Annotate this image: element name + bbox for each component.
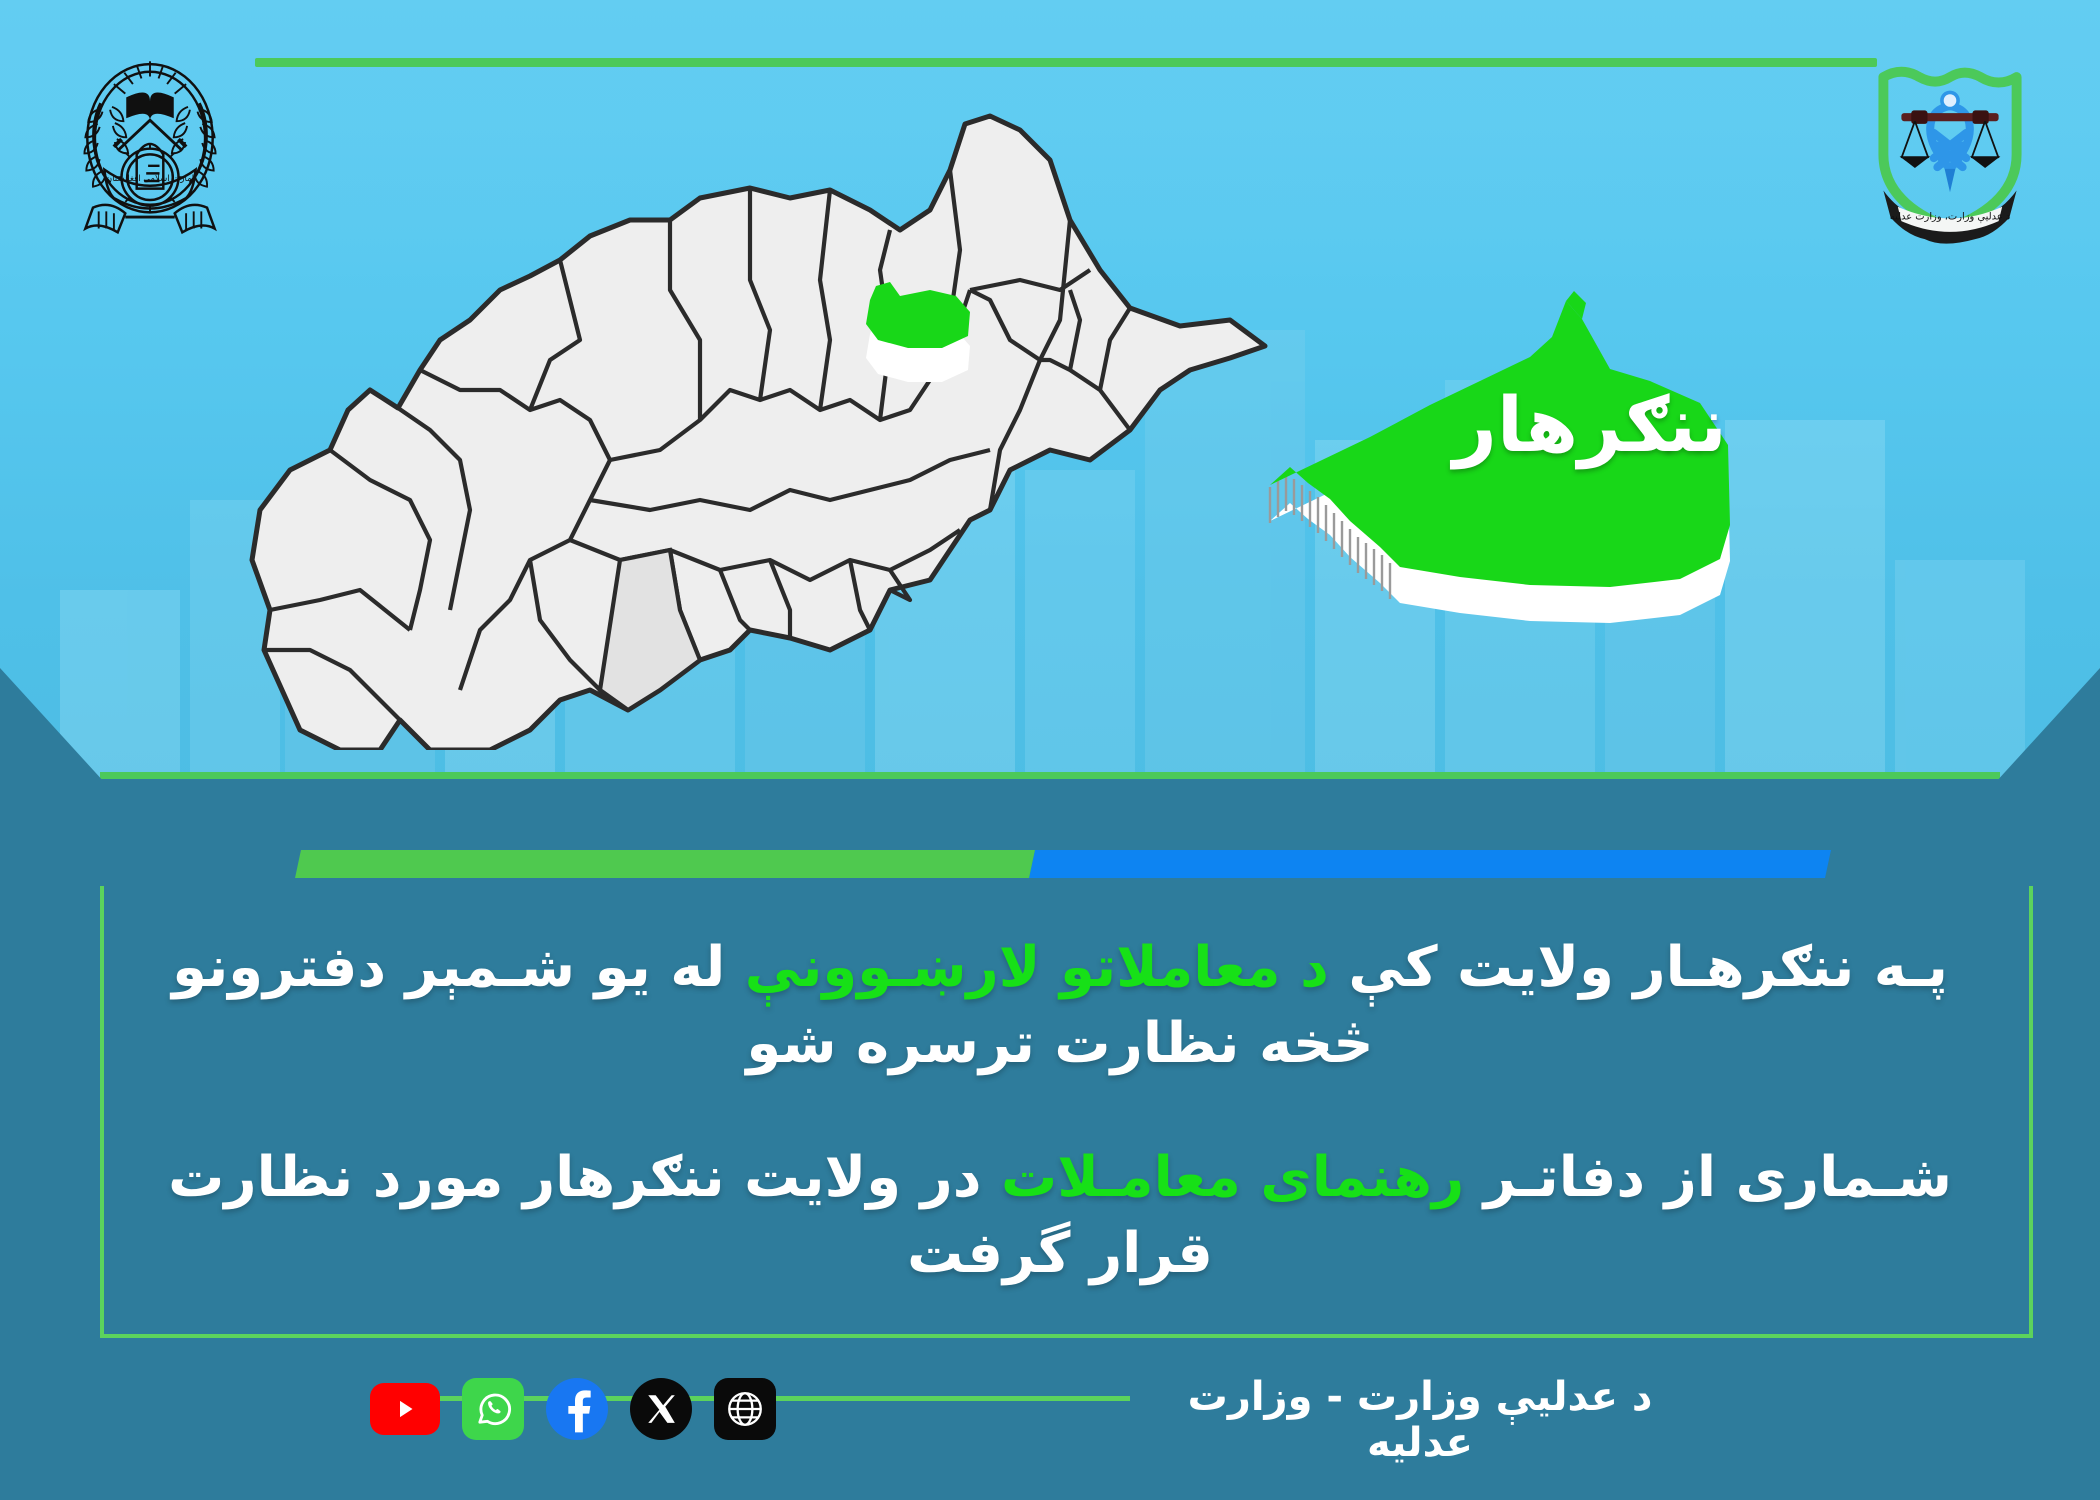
headline-dari: شـماری از دفاتـر رهنمای معامـلات در ولای… (150, 1140, 1970, 1291)
divider-bar-green (295, 850, 1035, 878)
ministry-of-justice-emblem-icon: د عدلیې وزارت، وزارت عدلیه (1860, 55, 2040, 245)
website-icon[interactable] (714, 1378, 776, 1440)
divider-bar-blue (1029, 850, 1831, 878)
hero-bottom-green-line (100, 772, 2000, 779)
nangarhar-province-callout (1230, 285, 1830, 665)
youtube-icon[interactable] (370, 1383, 440, 1435)
x-twitter-icon[interactable] (630, 1378, 692, 1440)
headline-pashto: پـه ننګرهـار ولایت کې د معاملاتو لارښـوو… (150, 930, 1970, 1081)
headline-dari-highlight: رهنمای معامـلات (1001, 1145, 1464, 1210)
national-emblem-icon: امارت اسلامی افغانستان (55, 48, 245, 238)
highlighted-province-nangarhar (866, 282, 970, 382)
nangarhar-map-label: ننګرهار (1400, 380, 1780, 469)
afghanistan-provinces-map (230, 90, 1290, 750)
facebook-icon[interactable] (546, 1378, 608, 1440)
footer-ministry-name: د عدلیې وزارت - وزارت عدلیه (1130, 1372, 1710, 1468)
poster-canvas: امارت اسلامی افغانستان (0, 0, 2100, 1500)
social-links (370, 1378, 776, 1440)
svg-text:امارت اسلامی افغانستان: امارت اسلامی افغانستان (106, 174, 194, 184)
headline-pashto-part1: پـه ننګرهـار ولایت کې (1329, 935, 1948, 1000)
headline-pashto-highlight: د معاملاتو لارښـوونې (745, 935, 1329, 1000)
whatsapp-icon[interactable] (462, 1378, 524, 1440)
headline-dari-part1: شـماری از دفاتـر (1464, 1145, 1952, 1210)
moj-ribbon-text: د عدلیې وزارت، وزارت عدلیه (1890, 211, 2011, 223)
top-green-rule (255, 58, 1877, 67)
section-divider-bar (295, 850, 1831, 878)
